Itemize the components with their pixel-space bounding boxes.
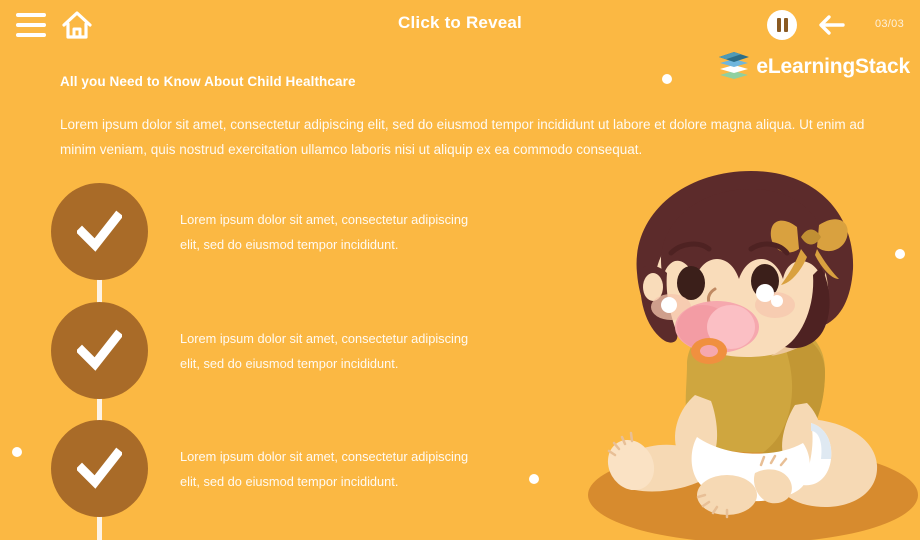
pause-icon[interactable] [767,10,797,40]
checklist-bullet[interactable] [51,420,148,517]
checklist-bullet[interactable] [51,183,148,280]
check-icon [77,446,122,491]
brand-logo[interactable]: eLearningStack [717,52,910,82]
hamburger-bar [16,33,46,37]
logo-text: eLearningStack [756,55,910,79]
list-item-text: Lorem ipsum dolor sit amet, consectetur … [180,444,480,494]
check-icon [77,328,122,373]
pause-bar [784,18,788,32]
top-toolbar: Click to Reveal 03/03 [0,0,920,50]
list-item-text: Lorem ipsum dolor sit amet, consectetur … [180,207,480,257]
pause-bar [777,18,781,32]
slide-canvas: Click to Reveal 03/03 eLearningStack [0,0,920,540]
check-icon [77,209,122,254]
back-arrow-icon[interactable] [817,14,845,36]
checklist-bullet[interactable] [51,302,148,399]
list-item-text: Lorem ipsum dolor sit amet, consectetur … [180,326,480,376]
page-counter: 03/03 [875,18,904,30]
stacked-books-icon [717,50,751,85]
